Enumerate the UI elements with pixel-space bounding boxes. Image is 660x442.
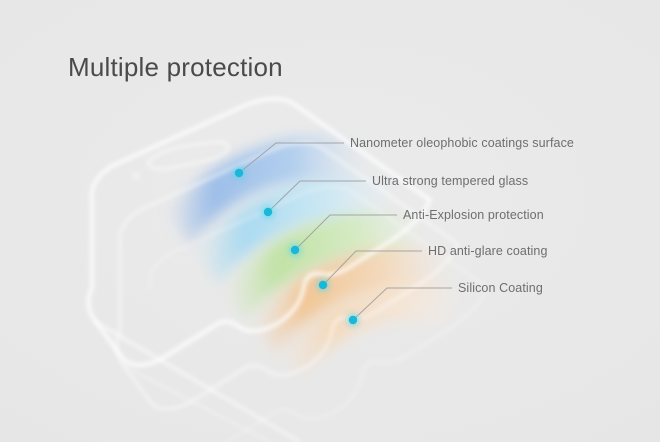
callout-dot-5[interactable]	[349, 316, 357, 324]
callout-label-silicon-coating: Silicon Coating	[458, 281, 543, 295]
callout-dot-1[interactable]	[235, 169, 243, 177]
callout-label-hd-anti-glare-coating: HD anti-glare coating	[428, 244, 548, 258]
callout-dot-4[interactable]	[319, 281, 327, 289]
callout-label-anti-explosion-protection: Anti-Explosion protection	[403, 208, 544, 222]
callout-dot-3[interactable]	[291, 246, 299, 254]
sheet-edge-highlight-2	[124, 366, 270, 442]
screen-protector-illustration	[0, 0, 660, 442]
callout-label-nanometer-oleophobic: Nanometer oleophobic coatings surface	[350, 136, 574, 150]
layer-bands	[168, 137, 466, 376]
callout-label-ultra-strong-tempered-glass: Ultra strong tempered glass	[372, 174, 528, 188]
callout-dot-2[interactable]	[264, 208, 272, 216]
protection-diagram: Multiple protection	[0, 0, 660, 442]
